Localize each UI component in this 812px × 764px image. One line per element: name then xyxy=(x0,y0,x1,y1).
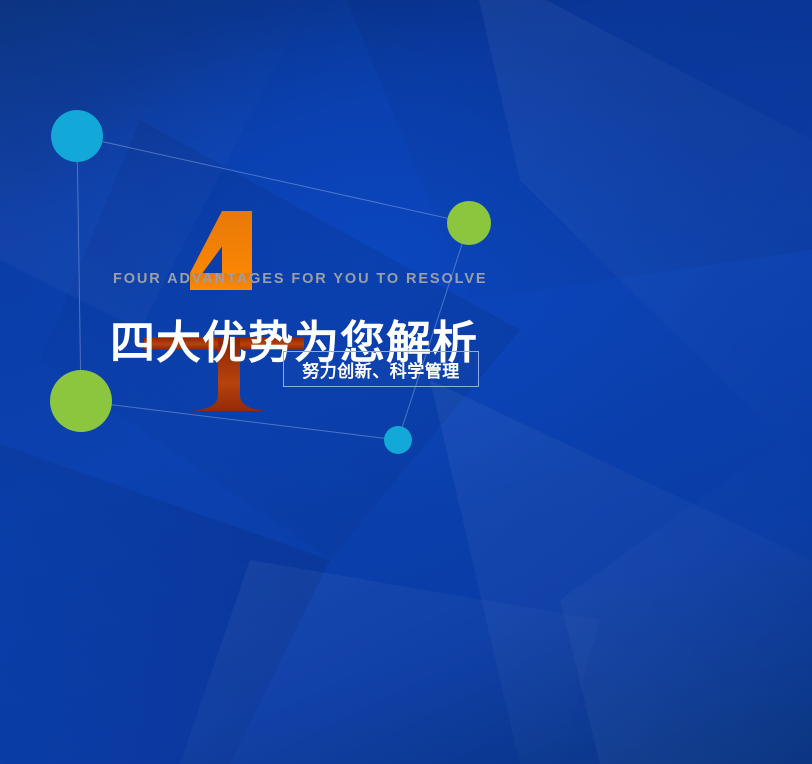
hero-content: FOUR ADVANTAGES FOR YOU TO RESOLVE 四大优势为… xyxy=(0,0,812,764)
slogan-badge[interactable]: 努力创新、科学管理 xyxy=(283,351,479,387)
banner-eyebrow: FOUR ADVANTAGES FOR YOU TO RESOLVE xyxy=(113,272,488,287)
hero-banner: FOUR ADVANTAGES FOR YOU TO RESOLVE 四大优势为… xyxy=(0,0,812,764)
slogan-badge-label: 努力创新、科学管理 xyxy=(302,357,460,382)
